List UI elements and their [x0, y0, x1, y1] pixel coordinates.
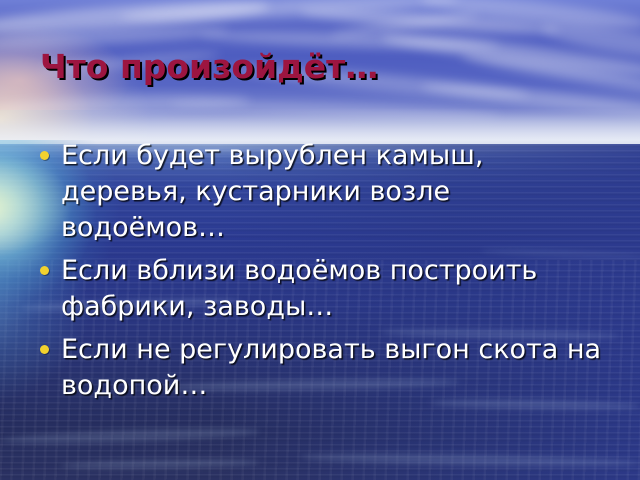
- list-item-label: Если не регулировать выгон скота на водо…: [61, 332, 606, 404]
- list-item: Если вблизи водоёмов построить фабрики, …: [40, 253, 606, 325]
- presentation-slide: Что произойдёт… Если будет вырублен камы…: [0, 0, 640, 480]
- bullet-dot-icon: [40, 345, 49, 354]
- bullet-dot-icon: [40, 266, 49, 275]
- list-item-label: Если будет вырублен камыш, деревья, куст…: [61, 138, 606, 246]
- bullet-list: Если будет вырублен камыш, деревья, куст…: [40, 138, 606, 411]
- bullet-dot-icon: [40, 151, 49, 160]
- slide-title: Что произойдёт…: [40, 48, 600, 86]
- list-item: Если будет вырублен камыш, деревья, куст…: [40, 138, 606, 246]
- list-item-label: Если вблизи водоёмов построить фабрики, …: [61, 253, 606, 325]
- list-item: Если не регулировать выгон скота на водо…: [40, 332, 606, 404]
